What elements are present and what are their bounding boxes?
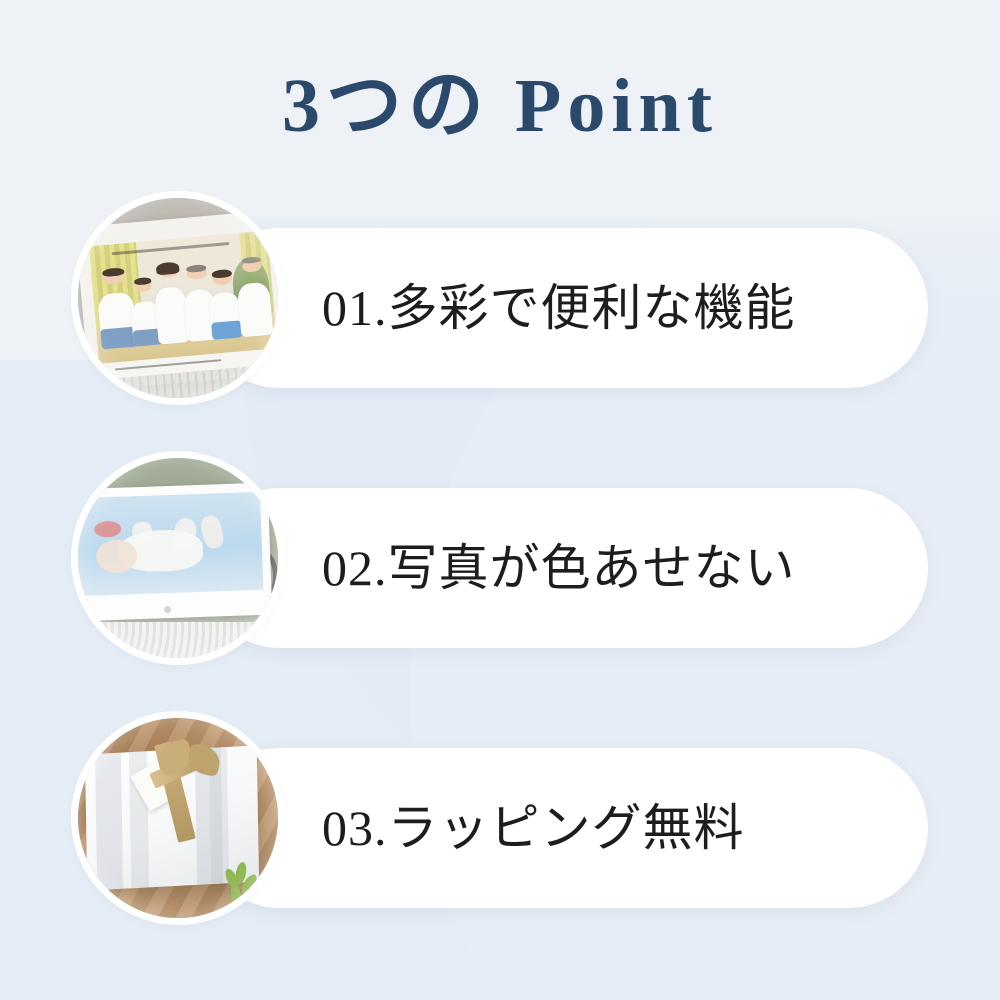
- point-card-3[interactable]: 03.ラッピング無料: [200, 748, 928, 908]
- page-title: 3つの Point: [0, 62, 1000, 152]
- point-thumbnail-1: [78, 198, 278, 398]
- point-thumbnail-2: [78, 458, 278, 658]
- point-row-3: 03.ラッピング無料: [0, 708, 1000, 928]
- gift-box-wrapping-image: [78, 718, 278, 918]
- point-label-1: 01.多彩で便利な機能: [322, 283, 796, 333]
- point-card-2[interactable]: 02.写真が色あせない: [200, 488, 928, 648]
- photo-frame-family-image: [78, 198, 278, 398]
- point-thumbnail-3: [78, 718, 278, 918]
- point-row-1: 01.多彩で便利な機能: [0, 188, 1000, 408]
- digital-frame-baby-image: [78, 458, 278, 658]
- point-card-1[interactable]: 01.多彩で便利な機能: [200, 228, 928, 388]
- point-label-3: 03.ラッピング無料: [322, 803, 745, 853]
- greenery-decoration: [222, 858, 270, 910]
- point-row-2: 02.写真が色あせない: [0, 448, 1000, 668]
- point-label-2: 02.写真が色あせない: [322, 543, 796, 593]
